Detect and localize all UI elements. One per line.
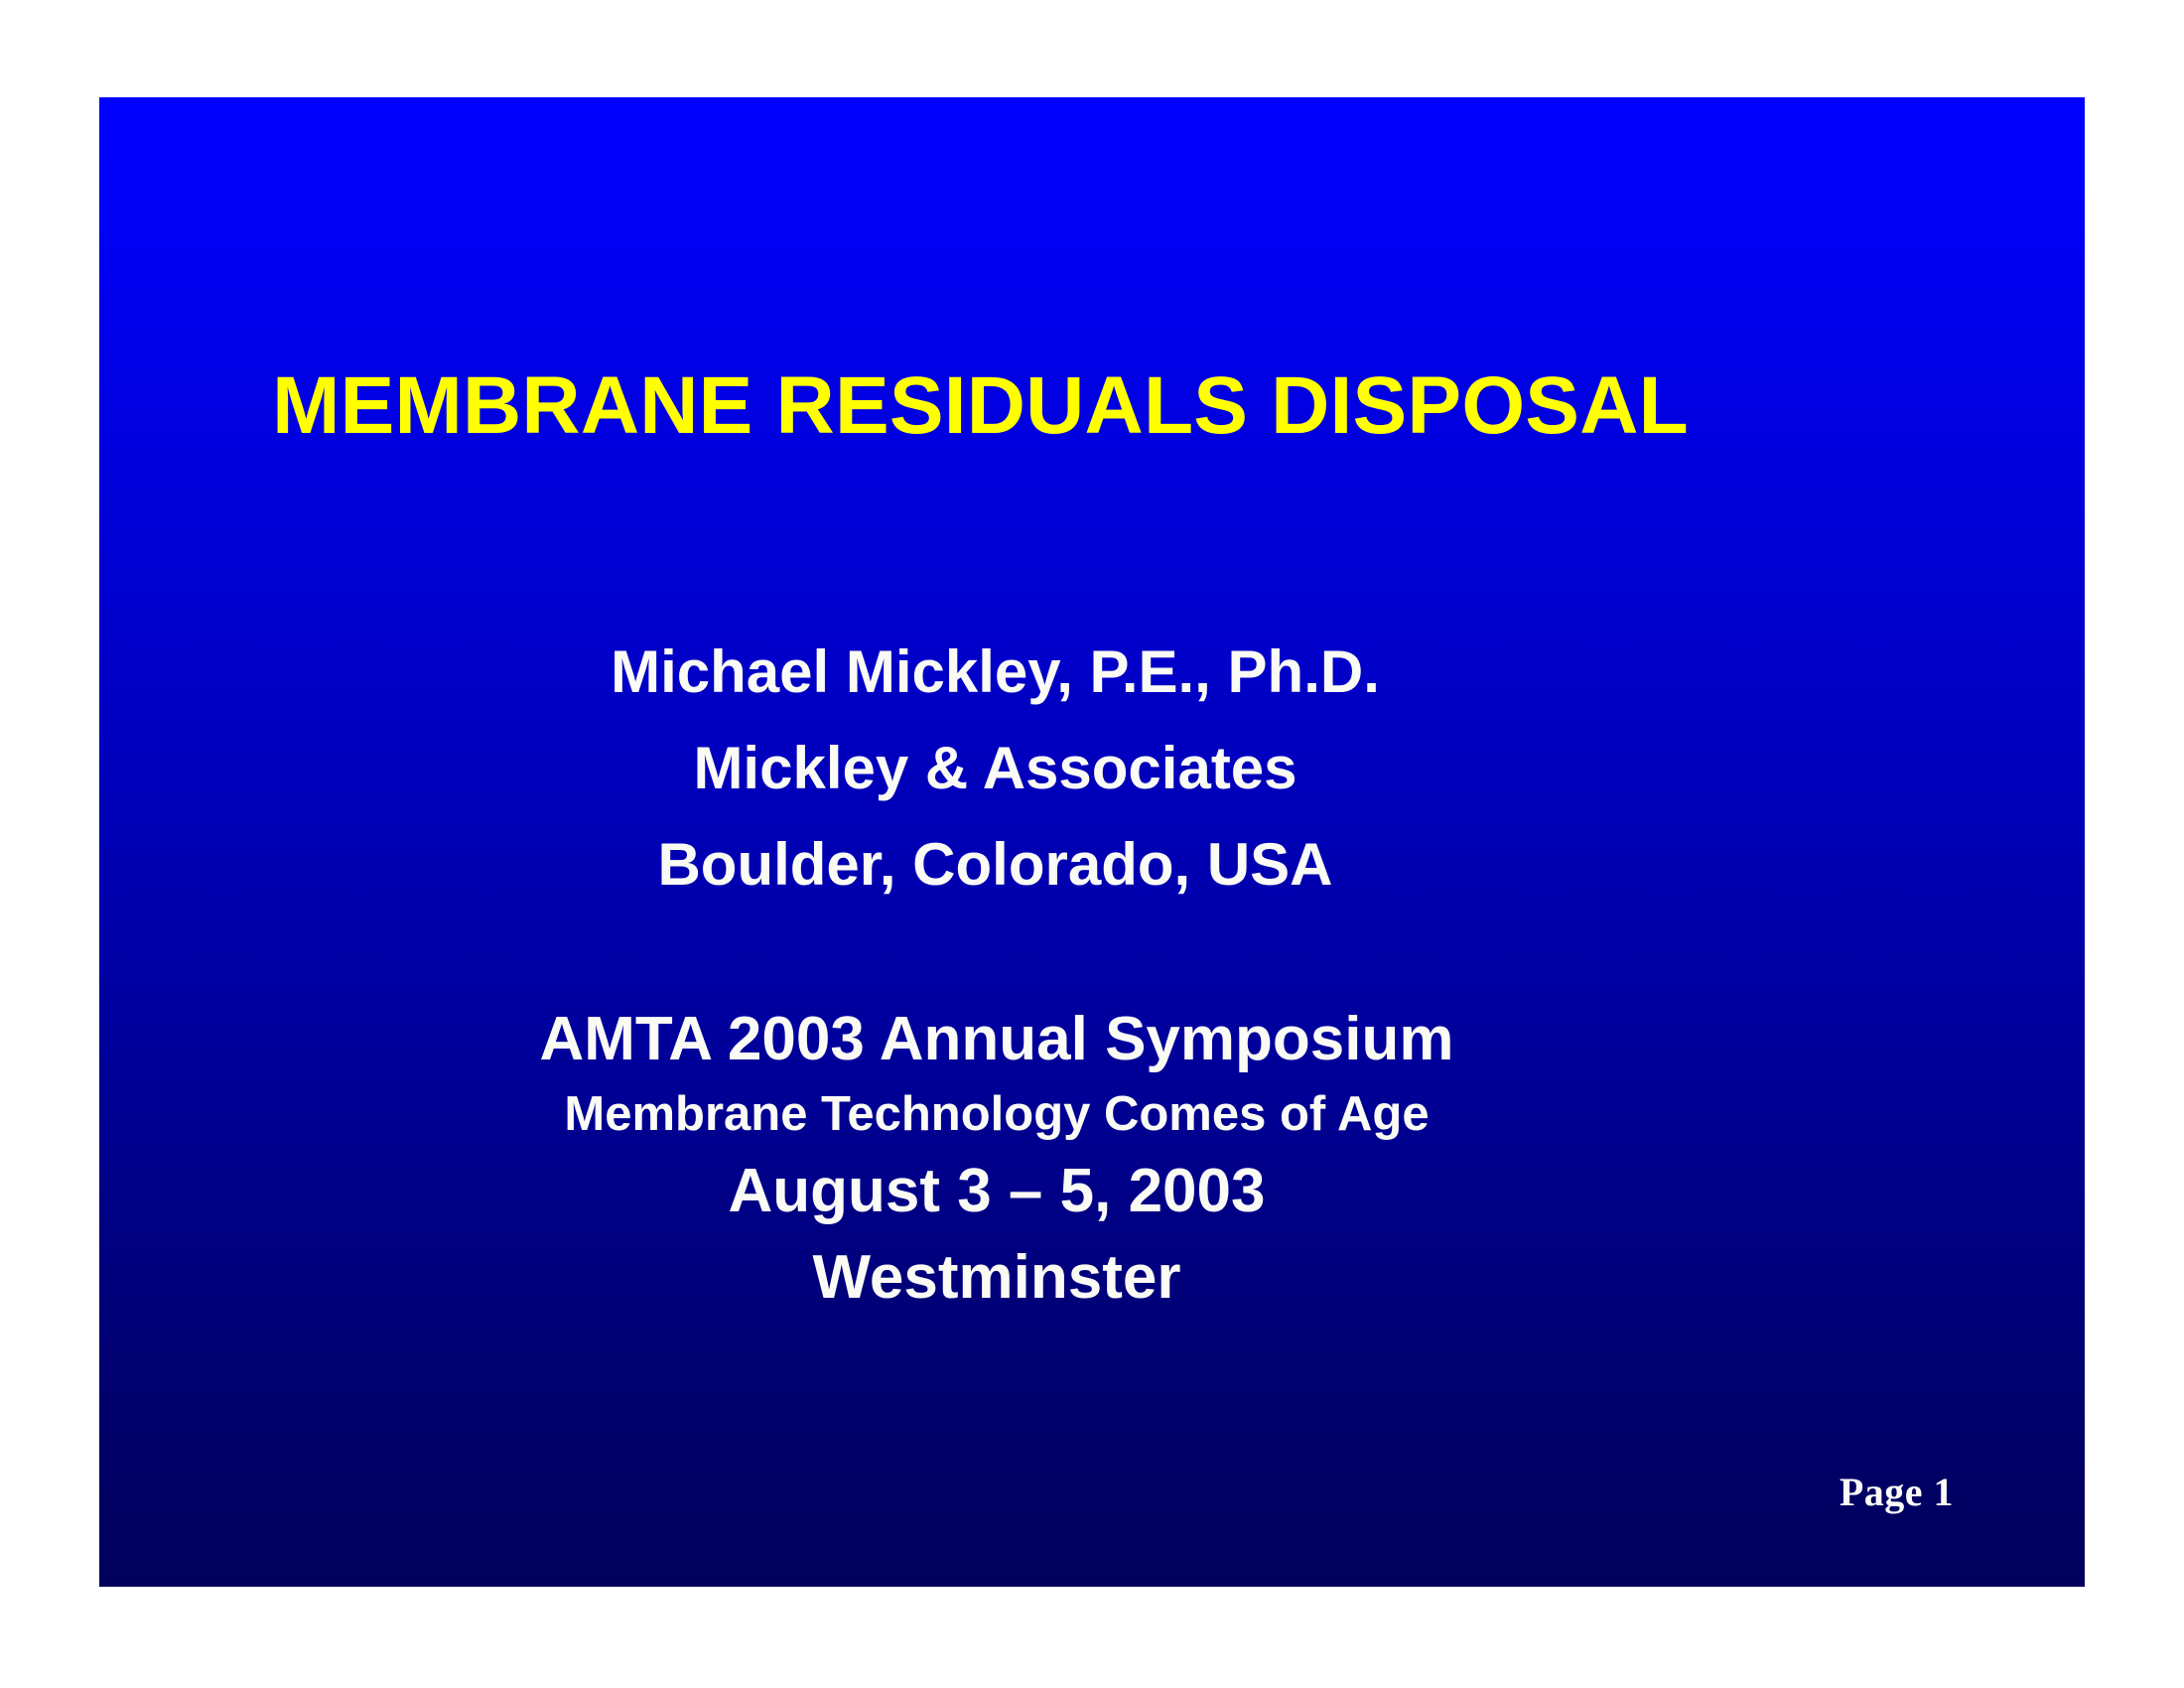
page-number-footer: Page 1	[1840, 1469, 1954, 1515]
author-organization: Mickley & Associates	[99, 720, 1891, 816]
event-dates: August 3 – 5, 2003	[99, 1148, 1894, 1235]
author-block: Michael Mickley, P.E., Ph.D. Mickley & A…	[99, 624, 1891, 914]
presentation-slide: MEMBRANE RESIDUALS DISPOSAL Michael Mick…	[99, 97, 2085, 1587]
slide-content: MEMBRANE RESIDUALS DISPOSAL Michael Mick…	[99, 97, 2085, 1587]
page-canvas: MEMBRANE RESIDUALS DISPOSAL Michael Mick…	[0, 0, 2184, 1688]
event-block: AMTA 2003 Annual Symposium Membrane Tech…	[99, 999, 1894, 1321]
event-theme: Membrane Technology Comes of Age	[99, 1080, 1894, 1149]
author-location: Boulder, Colorado, USA	[99, 816, 1891, 913]
slide-title: MEMBRANE RESIDUALS DISPOSAL	[99, 363, 1861, 449]
author-name: Michael Mickley, P.E., Ph.D.	[99, 624, 1891, 720]
event-venue: Westminster	[99, 1235, 1894, 1321]
event-name: AMTA 2003 Annual Symposium	[99, 999, 1894, 1080]
